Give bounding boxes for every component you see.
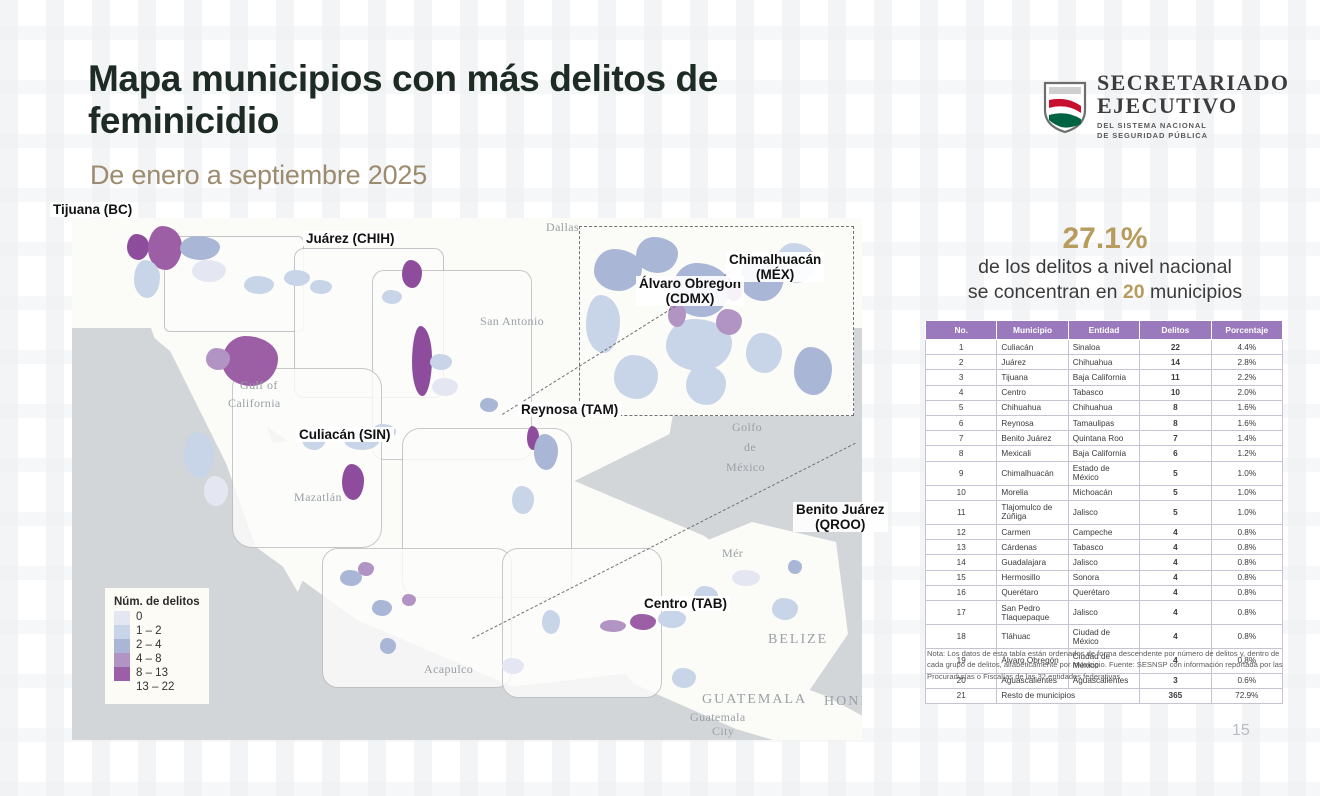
cell-no: 2 (926, 355, 997, 370)
cell-municipio: Tlajomulco de Zúñiga (997, 500, 1068, 524)
bglabel-acapulco: Acapulco (424, 662, 473, 677)
bglabel-gulf-of: Gulf of (240, 378, 278, 393)
table-row[interactable]: 12CarmenCampeche40.8% (926, 525, 1283, 540)
cell-delitos: 8 (1140, 400, 1211, 415)
cell-porcentaje: 0.8% (1211, 570, 1282, 585)
table-row[interactable]: 13CárdenasTabasco40.8% (926, 540, 1283, 555)
cell-delitos: 4 (1140, 625, 1211, 649)
municipios-table: No.MunicipioEntidadDelitosPorcentaje 1Cu… (925, 320, 1283, 704)
cell-porcentaje: 72.9% (1211, 688, 1282, 703)
cell-porcentaje: 2.8% (1211, 355, 1282, 370)
muni-bc-2[interactable] (192, 260, 226, 282)
legend-label-3: 4 – 8 (136, 652, 174, 666)
muni-chih-3[interactable] (430, 354, 452, 370)
callout-benito-juarez: Benito Juárez (QROO) (793, 502, 888, 532)
inset-muni-11[interactable] (614, 355, 658, 399)
cell-no: 17 (926, 601, 997, 625)
cell-entidad: Tamaulipas (1068, 415, 1139, 430)
table-note: Nota: Los datos de esta tabla están orde… (927, 648, 1297, 682)
legend-label-0: 0 (136, 611, 174, 624)
state-border-region-6 (322, 548, 512, 688)
legend-label-1: 1 – 2 (136, 624, 174, 638)
muni-tijuana[interactable] (127, 234, 149, 260)
bglabel-mazatlan: Mazatlán (294, 490, 342, 505)
statistic-line2: se concentran en 20 municipios (900, 280, 1310, 305)
legend-swatch-1 (114, 611, 130, 625)
cell-porcentaje: 0.8% (1211, 540, 1282, 555)
callout-chimalhuacan: Chimalhuacán (MÉX) (726, 252, 824, 282)
table-row[interactable]: 9ChimalhuacánEstado de México51.0% (926, 461, 1283, 485)
table-col-header-2: Entidad (1068, 321, 1139, 340)
cell-entidad: Chihuahua (1068, 355, 1139, 370)
cell-no: 4 (926, 385, 997, 400)
muni-sonora-3[interactable] (310, 280, 332, 294)
statistic-line1: de los delitos a nivel nacional (900, 255, 1310, 280)
cell-delitos: 4 (1140, 525, 1211, 540)
cell-municipio: Morelia (997, 485, 1068, 500)
cell-no: 16 (926, 585, 997, 600)
table-row[interactable]: 17San Pedro TlaquepaqueJalisco40.8% (926, 601, 1283, 625)
cell-delitos: 365 (1140, 688, 1211, 703)
headline-statistic: 27.1% de los delitos a nivel nacional se… (900, 222, 1310, 305)
inset-muni-3[interactable] (636, 237, 678, 273)
cell-no: 7 (926, 431, 997, 446)
cell-no: 18 (926, 625, 997, 649)
muni-sonora-4[interactable] (206, 348, 230, 370)
cell-municipio: San Pedro Tlaquepaque (997, 601, 1068, 625)
cell-municipio: Centro (997, 385, 1068, 400)
cell-municipio: Benito Juárez (997, 431, 1068, 446)
cell-municipio: Hermosillo (997, 570, 1068, 585)
table-row[interactable]: 6ReynosaTamaulipas81.6% (926, 415, 1283, 430)
cell-porcentaje: 1.0% (1211, 500, 1282, 524)
muni-cardenas-tab[interactable] (600, 620, 626, 632)
table-row[interactable]: 4CentroTabasco102.0% (926, 385, 1283, 400)
bglabel-california: California (228, 396, 281, 411)
logo-subline1: DEL SISTEMA NACIONAL (1097, 121, 1289, 131)
cell-entidad: Jalisco (1068, 500, 1139, 524)
page-title: Mapa municipios con más delitos de femin… (88, 58, 848, 142)
bglabel-mexico: México (726, 460, 765, 475)
logo-subline2: DE SEGURIDAD PÚBLICA (1097, 131, 1289, 141)
cell-porcentaje: 1.6% (1211, 415, 1282, 430)
cell-entidad: Estado de México (1068, 461, 1139, 485)
cell-delitos: 5 (1140, 485, 1211, 500)
cell-delitos: 10 (1140, 385, 1211, 400)
cell-porcentaje: 0.8% (1211, 625, 1282, 649)
table-head: No.MunicipioEntidadDelitosPorcentaje (926, 321, 1283, 340)
cell-no: 3 (926, 370, 997, 385)
cell-entidad: Sinaloa (1068, 340, 1139, 355)
cell-delitos: 4 (1140, 601, 1211, 625)
cell-municipio: Chimalhuacán (997, 461, 1068, 485)
cell-porcentaje: 4.4% (1211, 340, 1282, 355)
cell-municipio: Culiacán (997, 340, 1068, 355)
muni-culiacan[interactable] (342, 464, 364, 500)
callout-reynosa: Reynosa (TAM) (518, 402, 621, 417)
shield-flag-icon (1043, 80, 1087, 134)
cell-porcentaje: 2.0% (1211, 385, 1282, 400)
cell-porcentaje: 1.0% (1211, 461, 1282, 485)
slide-root: Mapa municipios con más delitos de femin… (0, 0, 1320, 796)
page-subtitle: De enero a septiembre 2025 (90, 160, 427, 191)
inset-muni-9[interactable] (746, 333, 782, 373)
table-header-row: No.MunicipioEntidadDelitosPorcentaje (926, 321, 1283, 340)
muni-baja-sur-2[interactable] (204, 476, 228, 506)
cell-entidad: Tabasco (1068, 385, 1139, 400)
table-row[interactable]: 18TláhuacCiudad de México40.8% (926, 625, 1283, 649)
cell-no: 9 (926, 461, 997, 485)
cell-no: 15 (926, 570, 997, 585)
table-col-header-3: Delitos (1140, 321, 1211, 340)
legend-label-2: 2 – 4 (136, 638, 174, 652)
muni-sonora-2[interactable] (284, 270, 310, 286)
table-row[interactable]: 11Tlajomulco de ZúñigaJalisco51.0% (926, 500, 1283, 524)
bglabel-guatemala: GUATEMALA (702, 692, 807, 708)
muni-chih-2[interactable] (382, 290, 402, 304)
cell-no: 13 (926, 540, 997, 555)
cell-no: 5 (926, 400, 997, 415)
inset-muni-6[interactable] (716, 309, 742, 335)
muni-benito-juarez-qroo[interactable] (788, 560, 802, 574)
legend-label-4: 8 – 13 (136, 666, 174, 680)
cell-porcentaje: 1.4% (1211, 431, 1282, 446)
statistic-line2-before: se concentran en (968, 281, 1123, 303)
legend-color-ramp (114, 611, 130, 694)
callout-centro: Centro (TAB) (641, 596, 730, 611)
muni-centro-tab[interactable] (630, 614, 656, 630)
inset-muni-12[interactable] (686, 365, 726, 405)
cell-entidad: Baja California (1068, 370, 1139, 385)
muni-guadalajara[interactable] (358, 562, 374, 576)
muni-guerrero-1[interactable] (380, 638, 396, 654)
inset-muni-10[interactable] (794, 347, 832, 395)
inset-muni-1[interactable] (594, 249, 642, 291)
municipios-table-wrapper: No.MunicipioEntidadDelitosPorcentaje 1Cu… (925, 320, 1283, 704)
table-col-header-1: Municipio (997, 321, 1068, 340)
muni-nuevoleon-1[interactable] (480, 398, 498, 412)
cell-municipio: Reynosa (997, 415, 1068, 430)
cell-municipio: Tláhuac (997, 625, 1068, 649)
cell-delitos: 14 (1140, 355, 1211, 370)
cell-entidad: Tabasco (1068, 540, 1139, 555)
cell-delitos: 4 (1140, 585, 1211, 600)
table-row[interactable]: 10MoreliaMichoacán51.0% (926, 485, 1283, 500)
table-row[interactable]: 15HermosilloSonora40.8% (926, 570, 1283, 585)
cell-delitos: 4 (1140, 555, 1211, 570)
cell-municipio: Resto de municipios (997, 688, 1140, 703)
legend-swatch-4 (114, 653, 130, 667)
cell-no: 1 (926, 340, 997, 355)
cell-municipio: Querétaro (997, 585, 1068, 600)
cell-porcentaje: 0.8% (1211, 555, 1282, 570)
logo-text: SECRETARIADO EJECUTIVO DEL SISTEMA NACIO… (1097, 72, 1289, 141)
cell-delitos: 6 (1140, 446, 1211, 461)
cell-delitos: 8 (1140, 415, 1211, 430)
bglabel-belize: BELIZE (768, 632, 828, 648)
state-border-region-4 (232, 368, 382, 548)
cell-porcentaje: 2.2% (1211, 370, 1282, 385)
muni-qroo-1[interactable] (772, 598, 798, 620)
cell-porcentaje: 0.8% (1211, 525, 1282, 540)
cell-porcentaje: 1.6% (1211, 400, 1282, 415)
table-row[interactable]: 5ChihuahuaChihuahua81.6% (926, 400, 1283, 415)
muni-morelia[interactable] (402, 594, 416, 606)
callout-culiacan: Culiacán (SIN) (296, 427, 394, 442)
bglabel-san-antonio: San Antonio (480, 314, 544, 329)
cell-delitos: 5 (1140, 461, 1211, 485)
callout-tijuana: Tijuana (BC) (50, 202, 135, 217)
cell-porcentaje: 0.8% (1211, 585, 1282, 600)
cell-delitos: 4 (1140, 570, 1211, 585)
cell-entidad: Sonora (1068, 570, 1139, 585)
bglabel-merida: Mér (722, 546, 743, 561)
cell-entidad: Michoacán (1068, 485, 1139, 500)
table-row[interactable]: 2JuárezChihuahua142.8% (926, 355, 1283, 370)
table-col-header-0: No. (926, 321, 997, 340)
cell-entidad: Jalisco (1068, 601, 1139, 625)
cell-entidad: Jalisco (1068, 555, 1139, 570)
table-row[interactable]: 14GuadalajaraJalisco40.8% (926, 555, 1283, 570)
cell-no: 12 (926, 525, 997, 540)
muni-oaxaca-1[interactable] (502, 658, 524, 674)
statistic-municipio-count: 20 (1123, 281, 1145, 303)
table-row[interactable]: 21Resto de municipios36572.9% (926, 688, 1283, 703)
cell-entidad: Quintana Roo (1068, 431, 1139, 446)
bglabel-golfo: Golfo (732, 420, 762, 435)
cell-porcentaje: 0.8% (1211, 601, 1282, 625)
table-row[interactable]: 7Benito JuárezQuintana Roo71.4% (926, 431, 1283, 446)
callout-juarez: Juárez (CHIH) (303, 231, 398, 246)
cell-delitos: 5 (1140, 500, 1211, 524)
legend-labels: 01 – 22 – 44 – 88 – 1313 – 22 (136, 611, 174, 694)
muni-tamaulipas-2[interactable] (512, 486, 534, 514)
table-row[interactable]: 1CuliacánSinaloa224.4% (926, 340, 1283, 355)
cell-delitos: 22 (1140, 340, 1211, 355)
logo-line1: SECRETARIADO (1097, 72, 1289, 94)
legend-body: 01 – 22 – 44 – 88 – 1313 – 22 (114, 611, 200, 694)
cell-porcentaje: 1.2% (1211, 446, 1282, 461)
legend-swatch-2 (114, 625, 130, 639)
cell-entidad: Ciudad de México (1068, 625, 1139, 649)
table-col-header-4: Porcentaje (1211, 321, 1282, 340)
legend-swatch-3 (114, 639, 130, 653)
cell-no: 11 (926, 500, 997, 524)
cell-municipio: Mexicali (997, 446, 1068, 461)
table-row[interactable]: 3TijuanaBaja California112.2% (926, 370, 1283, 385)
bglabel-de: de (744, 440, 756, 455)
cell-delitos: 4 (1140, 540, 1211, 555)
page-number: 15 (1232, 722, 1250, 740)
cell-no: 14 (926, 555, 997, 570)
cell-municipio: Chihuahua (997, 400, 1068, 415)
cell-delitos: 7 (1140, 431, 1211, 446)
statistic-line2-after: municipios (1145, 281, 1243, 303)
map-legend: Núm. de delitos 01 – 22 – 44 – 88 – 1313… (105, 588, 209, 704)
secretariado-logo: SECRETARIADO EJECUTIVO DEL SISTEMA NACIO… (1043, 72, 1289, 141)
table-row[interactable]: 8MexicaliBaja California61.2% (926, 446, 1283, 461)
cell-no: 21 (926, 688, 997, 703)
cell-entidad: Querétaro (1068, 585, 1139, 600)
cell-municipio: Guadalajara (997, 555, 1068, 570)
cell-entidad: Chihuahua (1068, 400, 1139, 415)
statistic-percent: 27.1% (900, 222, 1310, 255)
cell-municipio: Cárdenas (997, 540, 1068, 555)
cell-no: 6 (926, 415, 997, 430)
table-row[interactable]: 16QuerétaroQuerétaro40.8% (926, 585, 1283, 600)
cell-municipio: Tijuana (997, 370, 1068, 385)
bglabel-dallas: Dallas (546, 220, 579, 235)
cell-delitos: 11 (1140, 370, 1211, 385)
bglabel-honduras: HOND (824, 694, 862, 710)
bglabel-guatemala-city: Guatemala (690, 710, 746, 725)
logo-line2: EJECUTIVO (1097, 95, 1289, 117)
cell-no: 10 (926, 485, 997, 500)
muni-baja-sur-1[interactable] (184, 432, 214, 478)
cell-municipio: Juárez (997, 355, 1068, 370)
legend-title: Núm. de delitos (114, 596, 200, 608)
legend-swatch-5 (114, 667, 130, 681)
cell-porcentaje: 1.0% (1211, 485, 1282, 500)
bglabel-city: City (712, 724, 734, 739)
cell-entidad: Campeche (1068, 525, 1139, 540)
cell-municipio: Carmen (997, 525, 1068, 540)
cell-entidad: Baja California (1068, 446, 1139, 461)
legend-label-5: 13 – 22 (136, 680, 174, 694)
cell-no: 8 (926, 446, 997, 461)
